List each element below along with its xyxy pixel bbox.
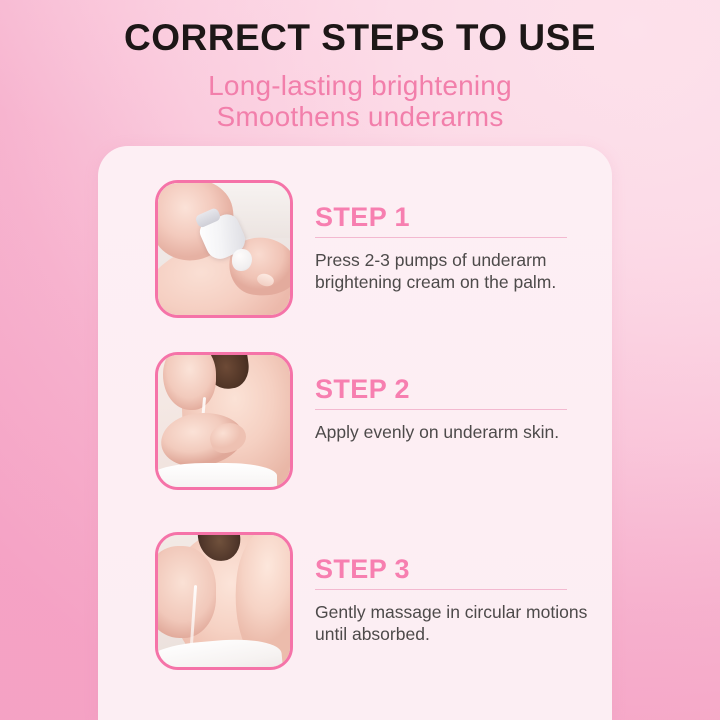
step-item: STEP 3 Gently massage in circular motion… [155,532,612,704]
page-title: CORRECT STEPS TO USE [0,0,720,60]
step-2-thumbnail[interactable] [155,352,293,490]
step-2-text: STEP 2 Apply evenly on underarm skin. [315,374,612,443]
step-1-body: Press 2-3 pumps of underarm brightening … [315,238,612,293]
step-3-body: Gently massage in circular motions until… [315,590,612,645]
infographic-root: CORRECT STEPS TO USE Long-lasting bright… [0,0,720,720]
step-3-text: STEP 3 Gently massage in circular motion… [315,554,612,645]
applying-cream-underarm-photo [158,355,290,487]
subtitle: Long-lasting brightening Smoothens under… [0,60,720,132]
hand-pumping-cream-photo [158,183,290,315]
step-3-heading: STEP 3 [315,554,612,584]
step-1-thumbnail[interactable] [155,180,293,318]
step-2-heading: STEP 2 [315,374,612,404]
subtitle-line-2: Smoothens underarms [0,101,720,132]
step-1-text: STEP 1 Press 2-3 pumps of underarm brigh… [315,202,612,293]
header: CORRECT STEPS TO USE Long-lasting bright… [0,0,720,132]
step-item: STEP 1 Press 2-3 pumps of underarm brigh… [155,180,612,352]
step-item: STEP 2 Apply evenly on underarm skin. [155,352,612,524]
subtitle-line-1: Long-lasting brightening [208,70,512,101]
smooth-underarm-result-photo [158,535,290,667]
step-1-heading: STEP 1 [315,202,612,232]
steps-card: STEP 1 Press 2-3 pumps of underarm brigh… [98,146,612,720]
step-2-body: Apply evenly on underarm skin. [315,410,612,443]
step-3-thumbnail[interactable] [155,532,293,670]
